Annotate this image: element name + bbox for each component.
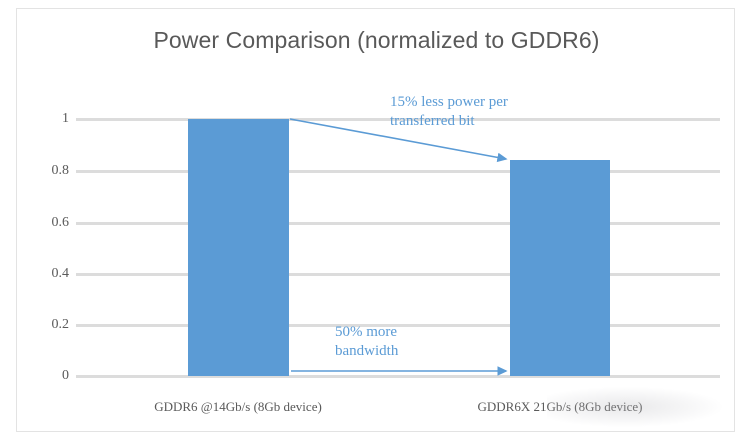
ytick-0_6: 0.6 (17, 215, 69, 231)
power-annotation: 15% less power per transferred bit (390, 93, 508, 131)
bar-gddr6[interactable] (188, 119, 289, 376)
ytick-label: 1 (23, 111, 69, 127)
bandwidth-annotation-line2: bandwidth (335, 342, 398, 361)
ytick-label: 0.6 (23, 215, 69, 231)
watermark-smudge (547, 387, 722, 427)
ytick-0_4: 0.4 (17, 266, 69, 282)
gridline-0_6 (76, 222, 720, 225)
power-annotation-line1: 15% less power per (390, 93, 508, 112)
ytick-0_8: 0.8 (17, 163, 69, 179)
ytick-label: 0.4 (23, 266, 69, 282)
power-annotation-line2: transferred bit (390, 112, 508, 131)
gridline-0 (76, 375, 720, 378)
ytick-label: 0.8 (23, 163, 69, 179)
chart-frame: Power Comparison (normalized to GDDR6) 1… (16, 8, 735, 432)
plot-area: 1 0.8 0.6 0.4 0.2 0 GDDR6 @14Gb/s (8Gb d… (17, 9, 736, 433)
annotation-arrows (17, 9, 736, 433)
category-label-gddr6: GDDR6 @14Gb/s (8Gb device) (118, 399, 358, 415)
ytick-0: 0 (17, 368, 69, 384)
gridline-0_4 (76, 273, 720, 276)
gridline-0_8 (76, 170, 720, 173)
ytick-1: 1 (17, 111, 69, 127)
bar-gddr6x[interactable] (510, 160, 610, 376)
bandwidth-annotation: 50% more bandwidth (335, 323, 398, 361)
bandwidth-annotation-line1: 50% more (335, 323, 398, 342)
ytick-label: 0 (23, 368, 69, 384)
ytick-label: 0.2 (23, 317, 69, 333)
ytick-0_2: 0.2 (17, 317, 69, 333)
